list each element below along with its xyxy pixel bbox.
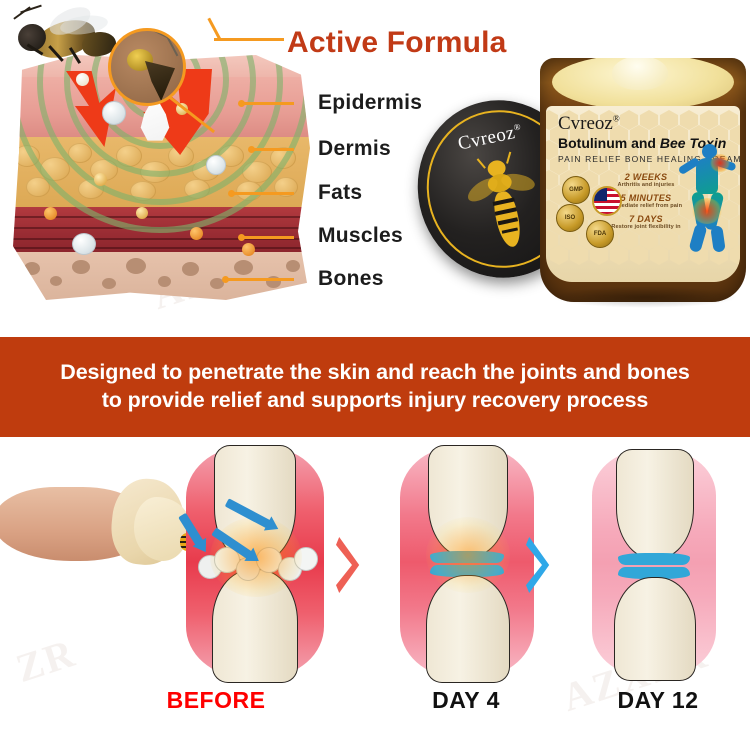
human-body-thermal-figure: [676, 144, 738, 256]
watermark-bottom-2: ZR: [10, 629, 81, 692]
bone-lower-day12: [614, 577, 696, 681]
stage-label-day12: DAY 12: [578, 687, 738, 714]
label-registered-mark: ®: [613, 114, 620, 124]
gold-seal-badge: ISO: [556, 204, 584, 232]
label-brand-text: Cvreoz: [558, 113, 613, 134]
skin-label-epidermis: Epidermis: [318, 91, 422, 115]
skin-label-muscles: Muscles: [318, 224, 403, 248]
joint-day4: [392, 447, 542, 677]
banner-text: Designed to penetrate the skin and reach…: [60, 359, 689, 415]
jar-shadow: [552, 286, 738, 308]
joint-before: [180, 447, 330, 677]
leader-line-dermis: [252, 148, 294, 151]
cartilage-upper-day12: [618, 553, 690, 565]
jar-cream-swirl: [612, 58, 668, 90]
chevron-arrow-blue: [526, 537, 566, 593]
jar-label: Cvreoz® Botulinum and Bee Toxin PAIN REL…: [546, 106, 740, 282]
label-title-part-a: Botulinum and: [558, 135, 660, 151]
skin-label-bones: Bones: [318, 267, 384, 291]
leader-line-fats: [232, 192, 294, 195]
certification-badges: GMP ISO FDA: [554, 176, 638, 252]
inflammation-glow-day4: [426, 517, 510, 593]
product-marketing-image: AZXZR AZXZR: [0, 0, 750, 750]
skin-label-dermis: Dermis: [318, 137, 391, 161]
usa-flag-badge: [592, 186, 622, 216]
skin-layer-bone: [10, 252, 310, 300]
product-jar: Cvreoz® Botulinum and Bee Toxin PAIN REL…: [540, 58, 746, 302]
finger-applying-cream: [0, 475, 194, 575]
stage-label-before: BEFORE: [136, 687, 296, 714]
joint-day12: [580, 451, 730, 681]
top-section: AZXZR AZXZR: [0, 0, 750, 337]
stage-label-day4: DAY 4: [386, 687, 546, 714]
fda-badge: FDA: [586, 220, 614, 248]
gmp-badge: GMP: [562, 176, 590, 204]
before-after-timeline: AZXZR ZR BEFORE: [0, 437, 750, 750]
magnifier-icon: [108, 28, 186, 106]
jar-label-content: Cvreoz® Botulinum and Bee Toxin PAIN REL…: [546, 106, 740, 282]
bone-upper-day12: [616, 449, 694, 559]
lid-registered-mark: ®: [513, 121, 522, 132]
active-formula-leader-line: [214, 38, 284, 41]
marketing-banner: Designed to penetrate the skin and reach…: [0, 337, 750, 437]
banner-line-2: to provide relief and supports injury re…: [60, 387, 689, 415]
page-title: Active Formula: [287, 26, 507, 60]
chevron-arrow-red: [336, 537, 376, 593]
leader-line-epidermis: [242, 102, 294, 105]
active-formula-leader-line-angled: [207, 18, 221, 41]
banner-line-1: Designed to penetrate the skin and reach…: [60, 359, 689, 387]
label-brand-name: Cvreoz®: [558, 114, 734, 133]
leader-line-muscles: [242, 236, 294, 239]
skin-label-fats: Fats: [318, 181, 362, 205]
leader-line-bones: [226, 278, 294, 281]
